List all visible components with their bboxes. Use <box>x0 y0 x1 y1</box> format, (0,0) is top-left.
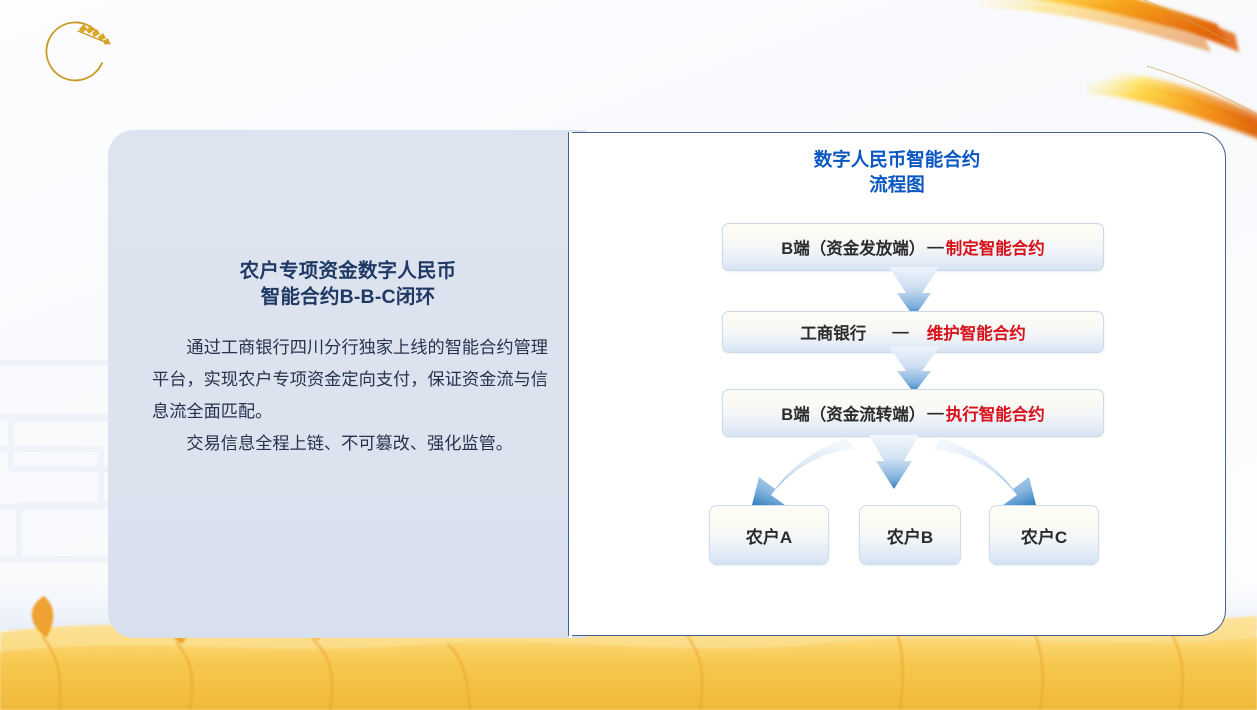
card-left-edge <box>569 132 572 638</box>
flow-step-action: 执行智能合约 <box>946 401 1045 425</box>
flow-step-label: 工商银行 <box>800 320 866 344</box>
left-heading-line-1: 农户专项资金数字人民币 <box>108 258 588 284</box>
flow-step-action: 维护智能合约 <box>927 320 1026 344</box>
flow-arrow-down-2 <box>869 347 959 395</box>
flow-step-label: B端（资金发放端） <box>781 235 925 259</box>
flowchart-title-line-1: 数字人民币智能合约 <box>569 147 1225 172</box>
flow-step-dash: — <box>925 404 946 423</box>
left-heading-line-2: 智能合约B-B-C闭环 <box>108 284 588 310</box>
flow-arrow-fanout-center <box>869 435 919 489</box>
flowchart-title: 数字人民币智能合约 流程图 <box>569 147 1225 197</box>
slide-canvas: 农户专项资金数字人民币 智能合约B-B-C闭环 通过工商银行四川分行独家上线的智… <box>0 0 1257 710</box>
flow-step-label: B端（资金流转端） <box>781 401 925 425</box>
flow-step-icbc[interactable]: 工商银行 — 维护智能合约 <box>722 311 1104 353</box>
flow-step-action: 制定智能合约 <box>946 235 1045 259</box>
farmer-label: 农户B <box>887 523 933 548</box>
left-paragraph-1: 通过工商银行四川分行独家上线的智能合约管理平台，实现农户专项资金定向支付，保证资… <box>152 332 548 428</box>
flowchart-title-line-2: 流程图 <box>569 172 1225 197</box>
flow-step-b-end-flow[interactable]: B端（资金流转端） — 执行智能合约 <box>722 389 1104 437</box>
flow-farmer-b[interactable]: 农户B <box>859 505 961 565</box>
flow-step-b-end-issuer[interactable]: B端（资金发放端） — 制定智能合约 <box>722 223 1104 271</box>
flow-farmer-a[interactable]: 农户A <box>709 505 829 565</box>
flow-step-dash: — <box>925 238 946 257</box>
left-panel-heading: 农户专项资金数字人民币 智能合约B-B-C闭环 <box>108 258 588 310</box>
flow-arrow-fanout-right <box>933 439 1037 509</box>
left-text-panel: 农户专项资金数字人民币 智能合约B-B-C闭环 通过工商银行四川分行独家上线的智… <box>108 130 588 638</box>
flow-arrow-fanout-group <box>679 433 1109 513</box>
wheat-ring-logo-icon <box>40 16 118 94</box>
flowchart-card: 数字人民币智能合约 流程图 B端（资金发放端） — 制定智能合约 工商银行 <box>568 132 1226 636</box>
left-panel-body: 通过工商银行四川分行独家上线的智能合约管理平台，实现农户专项资金定向支付，保证资… <box>152 332 548 460</box>
flow-step-dash: — <box>866 323 927 342</box>
left-paragraph-2: 交易信息全程上链、不可篡改、强化监管。 <box>152 428 548 460</box>
farmer-label: 农户C <box>1021 523 1067 548</box>
farmer-label: 农户A <box>746 523 792 548</box>
flow-farmer-c[interactable]: 农户C <box>989 505 1099 565</box>
flow-arrow-fanout-left <box>751 439 855 509</box>
